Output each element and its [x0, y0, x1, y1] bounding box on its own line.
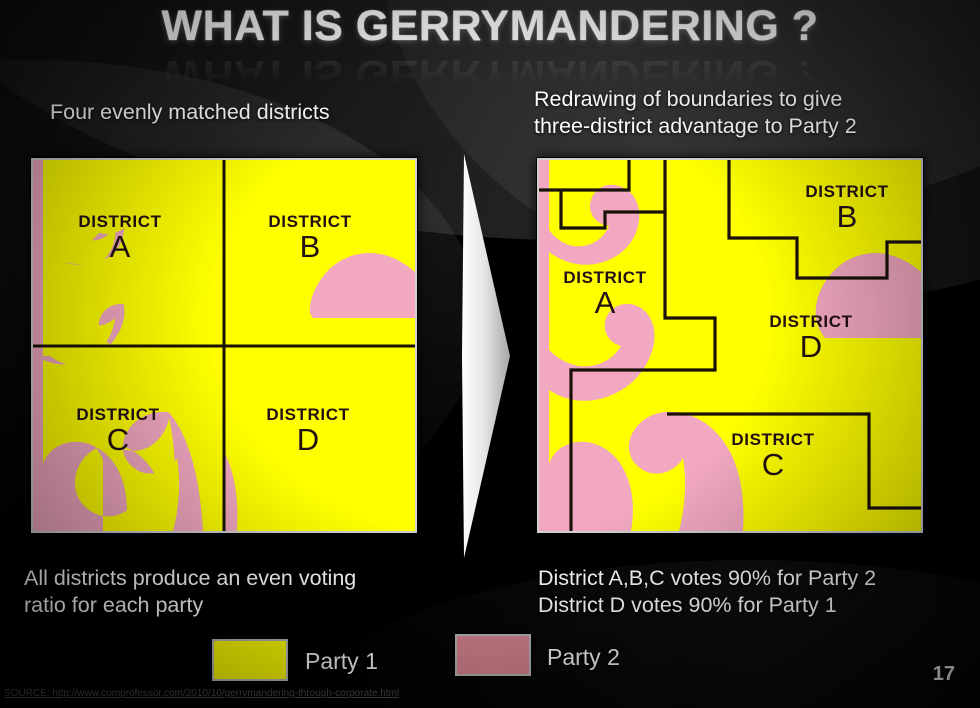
page-title: WHAT IS GERRYMANDERING ? — [0, 2, 980, 51]
left-caption-line-1: All districts produce an even voting — [24, 565, 464, 592]
title-area: WHAT IS GERRYMANDERING ? WHAT IS GERRYMA… — [0, 0, 980, 90]
source-link[interactable]: SOURCE: http://www.comprofessor.com/2010… — [4, 688, 399, 699]
left-header-line: Four evenly matched districts — [50, 99, 470, 126]
gerrymandered-districts-map-graphic — [539, 160, 921, 531]
right-panel-caption: District A,B,C votes 90% for Party 2 Dis… — [538, 565, 968, 619]
right-chevron-arrow — [448, 150, 520, 562]
legend-label-party2: Party 2 — [547, 644, 620, 671]
right-panel-header: Redrawing of boundaries to give three-di… — [534, 86, 964, 140]
gerrymandered-districts-map[interactable]: DISTRICT A DISTRICT B DISTRICT C DISTRIC… — [537, 158, 923, 533]
right-header-line-2: three-district advantage to Party 2 — [534, 113, 964, 140]
right-caption-line-1: District A,B,C votes 90% for Party 2 — [538, 565, 968, 592]
left-panel-header: Four evenly matched districts — [50, 99, 470, 126]
slide-canvas: WHAT IS GERRYMANDERING ? WHAT IS GERRYMA… — [0, 0, 980, 708]
legend-label-party1: Party 1 — [305, 648, 378, 675]
page-number: 17 — [933, 663, 955, 686]
even-districts-map[interactable]: DISTRICT A DISTRICT B DISTRICT C DISTRIC… — [31, 158, 417, 533]
right-header-line-1: Redrawing of boundaries to give — [534, 86, 964, 113]
legend-swatch-party1 — [212, 639, 288, 681]
legend-swatch-party2 — [455, 634, 531, 676]
even-districts-map-graphic — [33, 160, 415, 531]
arrow-shape — [462, 154, 510, 558]
left-panel-caption: All districts produce an even voting rat… — [24, 565, 464, 619]
right-caption-line-2: District D votes 90% for Party 1 — [538, 592, 968, 619]
left-caption-line-2: ratio for each party — [24, 592, 464, 619]
